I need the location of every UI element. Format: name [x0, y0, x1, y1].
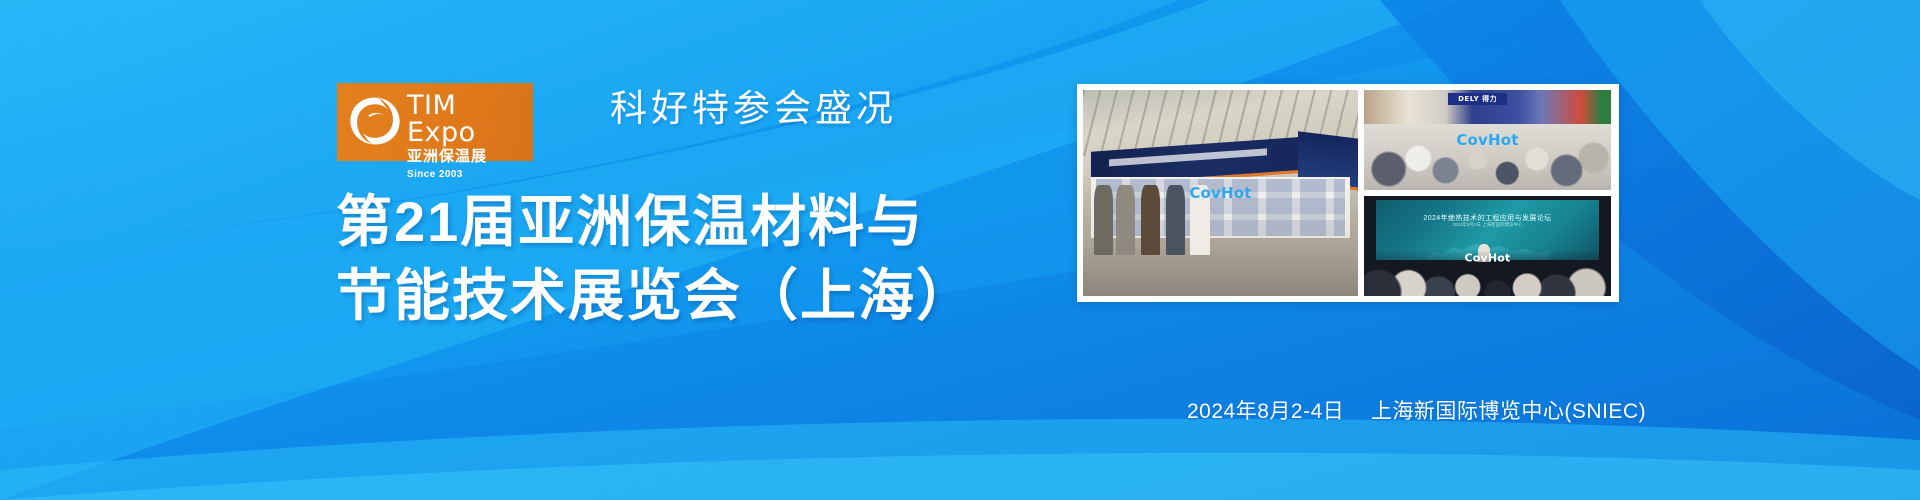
photo-collage: CovHot DELY 得力 CovHot 2024年绝热技术的工程应用与发展论…	[1077, 84, 1619, 302]
date-venue-line: 2024年8月2-4日 上海新国际博览中心(SNIEC)	[1187, 395, 1646, 425]
visitors-crowd-photo: DELY 得力 CovHot	[1364, 90, 1611, 190]
logo-since: Since 2003	[407, 170, 533, 180]
forum-presentation-photo: 2024年绝热技术的工程应用与发展论坛 2024年8月2日 上海新国际博览中心 …	[1364, 196, 1611, 296]
logo-subtitle: 亚洲保温展	[407, 149, 533, 164]
headline-line-1: 第21届亚洲保温材料与	[336, 185, 974, 259]
tagline: 科好特参会盛况	[610, 78, 897, 132]
headline-line-2: 节能技术展览会（上海）	[336, 259, 974, 333]
event-venue: 上海新国际博览中心(SNIEC)	[1371, 400, 1646, 423]
screen-subtitle: 2024年8月2日 上海新国际博览中心	[1376, 222, 1598, 228]
logo-text-block: TIM Expo 亚洲保温展 Since 2003	[407, 91, 533, 180]
visitor-figure	[1190, 185, 1209, 255]
event-date: 2024年8月2-4日	[1187, 400, 1344, 423]
booth-scene	[1083, 90, 1358, 296]
neighbor-booth-sign: DELY 得力	[1448, 93, 1507, 105]
crowd-scene: DELY 得力	[1364, 90, 1611, 190]
visitor-figure	[1094, 185, 1113, 255]
visitor-figure	[1116, 185, 1135, 255]
tim-expo-swirl-icon	[347, 93, 403, 149]
crowd-figures	[1364, 120, 1611, 190]
exhibition-booth-photo: CovHot	[1083, 90, 1358, 296]
visitor-figure	[1166, 185, 1185, 255]
expo-banner: TIM Expo 亚洲保温展 Since 2003 科好特参会盛况 第21届亚洲…	[0, 0, 1920, 500]
visitor-figure	[1141, 185, 1160, 255]
forum-scene: 2024年绝热技术的工程应用与发展论坛 2024年8月2日 上海新国际博览中心	[1364, 196, 1611, 296]
audience-figures	[1364, 250, 1611, 296]
tim-expo-logo[interactable]: TIM Expo 亚洲保温展 Since 2003	[337, 83, 533, 161]
page-title: 第21届亚洲保温材料与 节能技术展览会（上海）	[336, 185, 974, 334]
logo-title: TIM Expo	[407, 92, 533, 146]
